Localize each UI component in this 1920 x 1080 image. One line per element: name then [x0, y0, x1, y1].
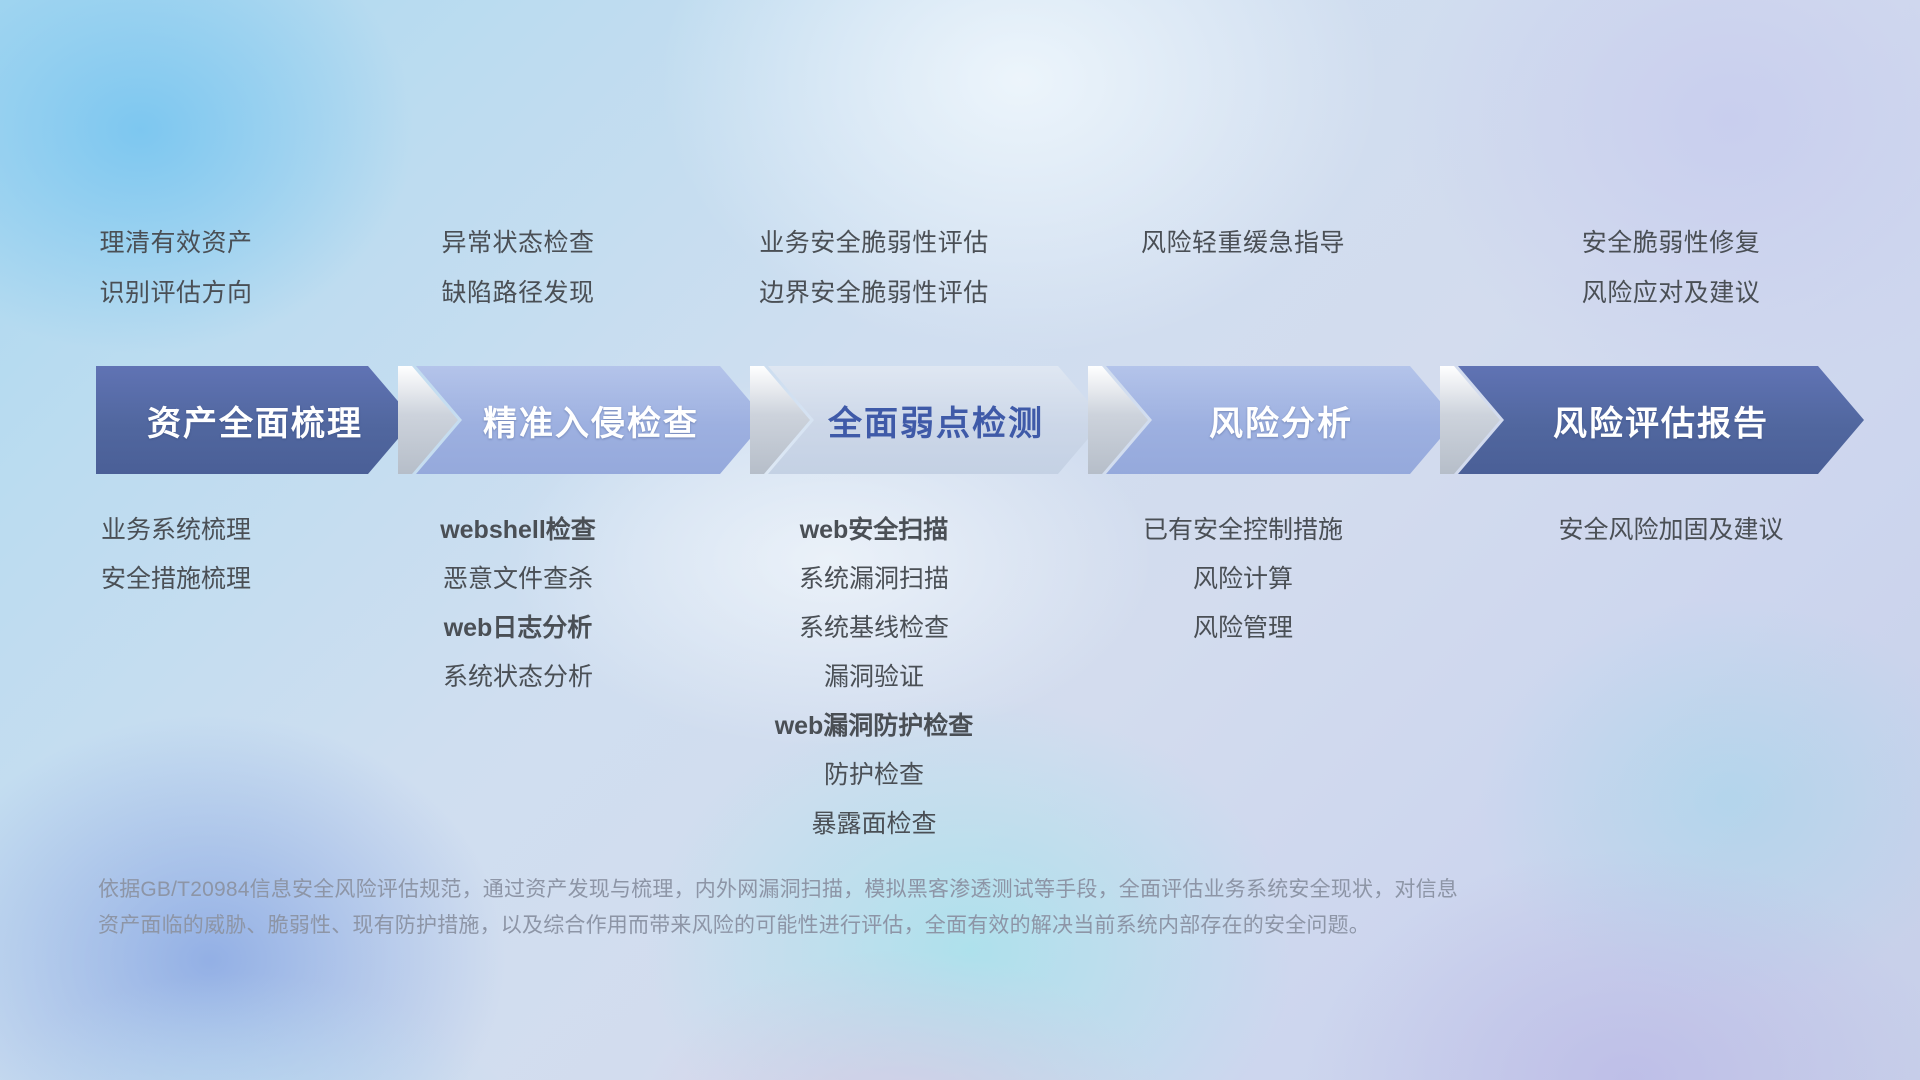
- item-list-stage-2: webshell检查 恶意文件查杀 web日志分析 系统状态分析: [352, 506, 684, 849]
- list-item: 恶意文件查杀: [352, 555, 684, 604]
- slide-canvas: 理清有效资产 识别评估方向 异常状态检查 缺陷路径发现 业务安全脆弱性评估 边界…: [0, 0, 1920, 1080]
- list-item: 安全措施梳理: [0, 555, 352, 604]
- stage-title: 精准入侵检查: [483, 396, 699, 445]
- top-caption-line: 业务安全脆弱性评估: [684, 218, 1064, 268]
- top-caption-line: 风险应对及建议: [1422, 268, 1920, 318]
- bottom-items-row: 业务系统梳理 安全措施梳理 webshell检查 恶意文件查杀 web日志分析 …: [0, 506, 1920, 849]
- list-item: web安全扫描: [684, 506, 1064, 555]
- list-item: 系统状态分析: [352, 653, 684, 702]
- item-list-stage-4: 已有安全控制措施 风险计算 风险管理: [1064, 506, 1422, 849]
- top-caption-line: 缺陷路径发现: [352, 268, 684, 318]
- item-list-stage-5: 安全风险加固及建议: [1422, 506, 1920, 849]
- stage-title: 风险评估报告: [1553, 396, 1769, 445]
- top-caption-line: 安全脆弱性修复: [1422, 218, 1920, 268]
- item-list-stage-3: web安全扫描 系统漏洞扫描 系统基线检查 漏洞验证 web漏洞防护检查 防护检…: [684, 506, 1064, 849]
- process-diagram: 理清有效资产 识别评估方向 异常状态检查 缺陷路径发现 业务安全脆弱性评估 边界…: [0, 0, 1920, 1080]
- list-item: 业务系统梳理: [0, 506, 352, 555]
- top-caption-line: 风险轻重缓急指导: [1064, 218, 1422, 268]
- top-caption-stage-2: 异常状态检查 缺陷路径发现: [352, 218, 684, 338]
- footer-line-2: 资产面临的威胁、脆弱性、现有防护措施，以及综合作用而带来风险的可能性进行评估，全…: [98, 908, 1628, 944]
- stage-chevron-5[interactable]: 风险评估报告: [1458, 366, 1864, 474]
- list-item: 漏洞验证: [684, 653, 1064, 702]
- stage-chevron-2[interactable]: 精准入侵检查: [416, 366, 766, 474]
- top-caption-stage-5: 安全脆弱性修复 风险应对及建议: [1422, 218, 1920, 338]
- list-item: 防护检查: [684, 751, 1064, 800]
- list-item: 风险管理: [1064, 604, 1422, 653]
- list-item: web漏洞防护检查: [684, 702, 1064, 751]
- top-caption-line: 理清有效资产: [0, 218, 352, 268]
- stage-title: 风险分析: [1209, 396, 1353, 445]
- stage-title: 全面弱点检测: [828, 396, 1044, 445]
- list-item: 风险计算: [1064, 555, 1422, 604]
- list-item: webshell检查: [352, 506, 684, 555]
- list-item: 已有安全控制措施: [1064, 506, 1422, 555]
- list-item: 暴露面检查: [684, 800, 1064, 849]
- list-item: 安全风险加固及建议: [1422, 506, 1920, 555]
- top-caption-row: 理清有效资产 识别评估方向 异常状态检查 缺陷路径发现 业务安全脆弱性评估 边界…: [0, 218, 1920, 338]
- footer-description: 依据GB/T20984信息安全风险评估规范，通过资产发现与梳理，内外网漏洞扫描，…: [98, 872, 1628, 944]
- top-caption-line: 识别评估方向: [0, 268, 352, 318]
- list-item: 系统基线检查: [684, 604, 1064, 653]
- footer-line-1: 依据GB/T20984信息安全风险评估规范，通过资产发现与梳理，内外网漏洞扫描，…: [98, 872, 1628, 908]
- list-item: web日志分析: [352, 604, 684, 653]
- stage-chevron-band: 资产全面梳理 精准入侵检查 全面弱点检测 风险分析 风险评估报告: [0, 366, 1920, 474]
- top-caption-stage-1: 理清有效资产 识别评估方向: [0, 218, 352, 338]
- stage-chevron-1[interactable]: 资产全面梳理: [96, 366, 414, 474]
- stage-chevron-4[interactable]: 风险分析: [1106, 366, 1456, 474]
- top-caption-stage-3: 业务安全脆弱性评估 边界安全脆弱性评估: [684, 218, 1064, 338]
- top-caption-line: 异常状态检查: [352, 218, 684, 268]
- stage-chevron-3[interactable]: 全面弱点检测: [768, 366, 1104, 474]
- top-caption-line: 边界安全脆弱性评估: [684, 268, 1064, 318]
- stage-title: 资产全面梳理: [147, 396, 363, 445]
- list-item: 系统漏洞扫描: [684, 555, 1064, 604]
- item-list-stage-1: 业务系统梳理 安全措施梳理: [0, 506, 352, 849]
- top-caption-stage-4: 风险轻重缓急指导: [1064, 218, 1422, 338]
